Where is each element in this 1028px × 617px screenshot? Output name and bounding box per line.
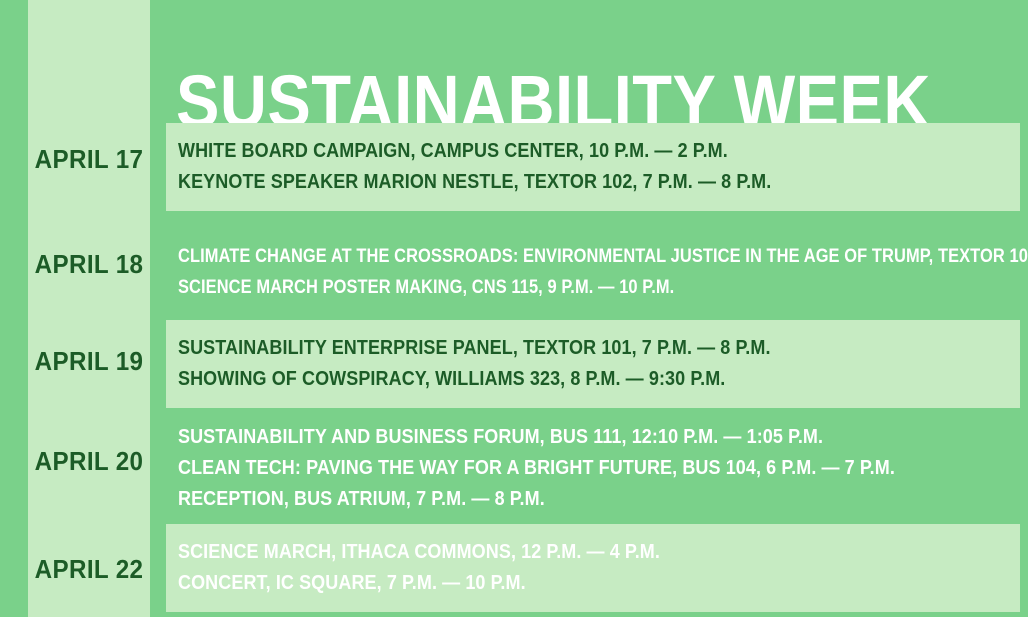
row-events-panel: SUSTAINABILITY AND BUSINESS FORUM, BUS 1… (166, 409, 1020, 528)
event-line: WHITE BOARD CAMPAIGN, CAMPUS CENTER, 10 … (178, 136, 936, 167)
row-date-label: APRIL 22 (32, 554, 145, 585)
row-events-panel: WHITE BOARD CAMPAIGN, CAMPUS CENTER, 10 … (166, 123, 1020, 211)
event-line: KEYNOTE SPEAKER MARION NESTLE, TEXTOR 10… (178, 167, 936, 198)
row-events-panel: SUSTAINABILITY ENTERPRISE PANEL, TEXTOR … (166, 320, 1020, 408)
event-line: CLEAN TECH: PAVING THE WAY FOR A BRIGHT … (178, 453, 936, 484)
event-line: CONCERT, IC SQUARE, 7 P.M. — 10 P.M. (178, 568, 936, 599)
event-line: SUSTAINABILITY AND BUSINESS FORUM, BUS 1… (178, 422, 936, 453)
row-events-panel: SCIENCE MARCH, ITHACA COMMONS, 12 P.M. —… (166, 524, 1020, 612)
date-column-strip (28, 0, 150, 617)
event-line: SCIENCE MARCH POSTER MAKING, CNS 115, 9 … (178, 272, 906, 303)
event-line: SUSTAINABILITY ENTERPRISE PANEL, TEXTOR … (178, 333, 936, 364)
event-line: CLIMATE CHANGE AT THE CROSSROADS: ENVIRO… (178, 241, 906, 272)
row-date-label: APRIL 18 (32, 249, 145, 280)
row-date-label: APRIL 19 (32, 346, 145, 377)
event-line: SHOWING OF COWSPIRACY, WILLIAMS 323, 8 P… (178, 364, 936, 395)
sustainability-week-poster: SUSTAINABILITY WEEK APRIL 17WHITE BOARD … (0, 0, 1028, 617)
row-events-panel: CLIMATE CHANGE AT THE CROSSROADS: ENVIRO… (166, 228, 1020, 316)
event-line: SCIENCE MARCH, ITHACA COMMONS, 12 P.M. —… (178, 537, 936, 568)
row-date-label: APRIL 20 (32, 446, 145, 477)
row-date-label: APRIL 17 (32, 144, 145, 175)
event-line: RECEPTION, BUS ATRIUM, 7 P.M. — 8 P.M. (178, 484, 936, 515)
